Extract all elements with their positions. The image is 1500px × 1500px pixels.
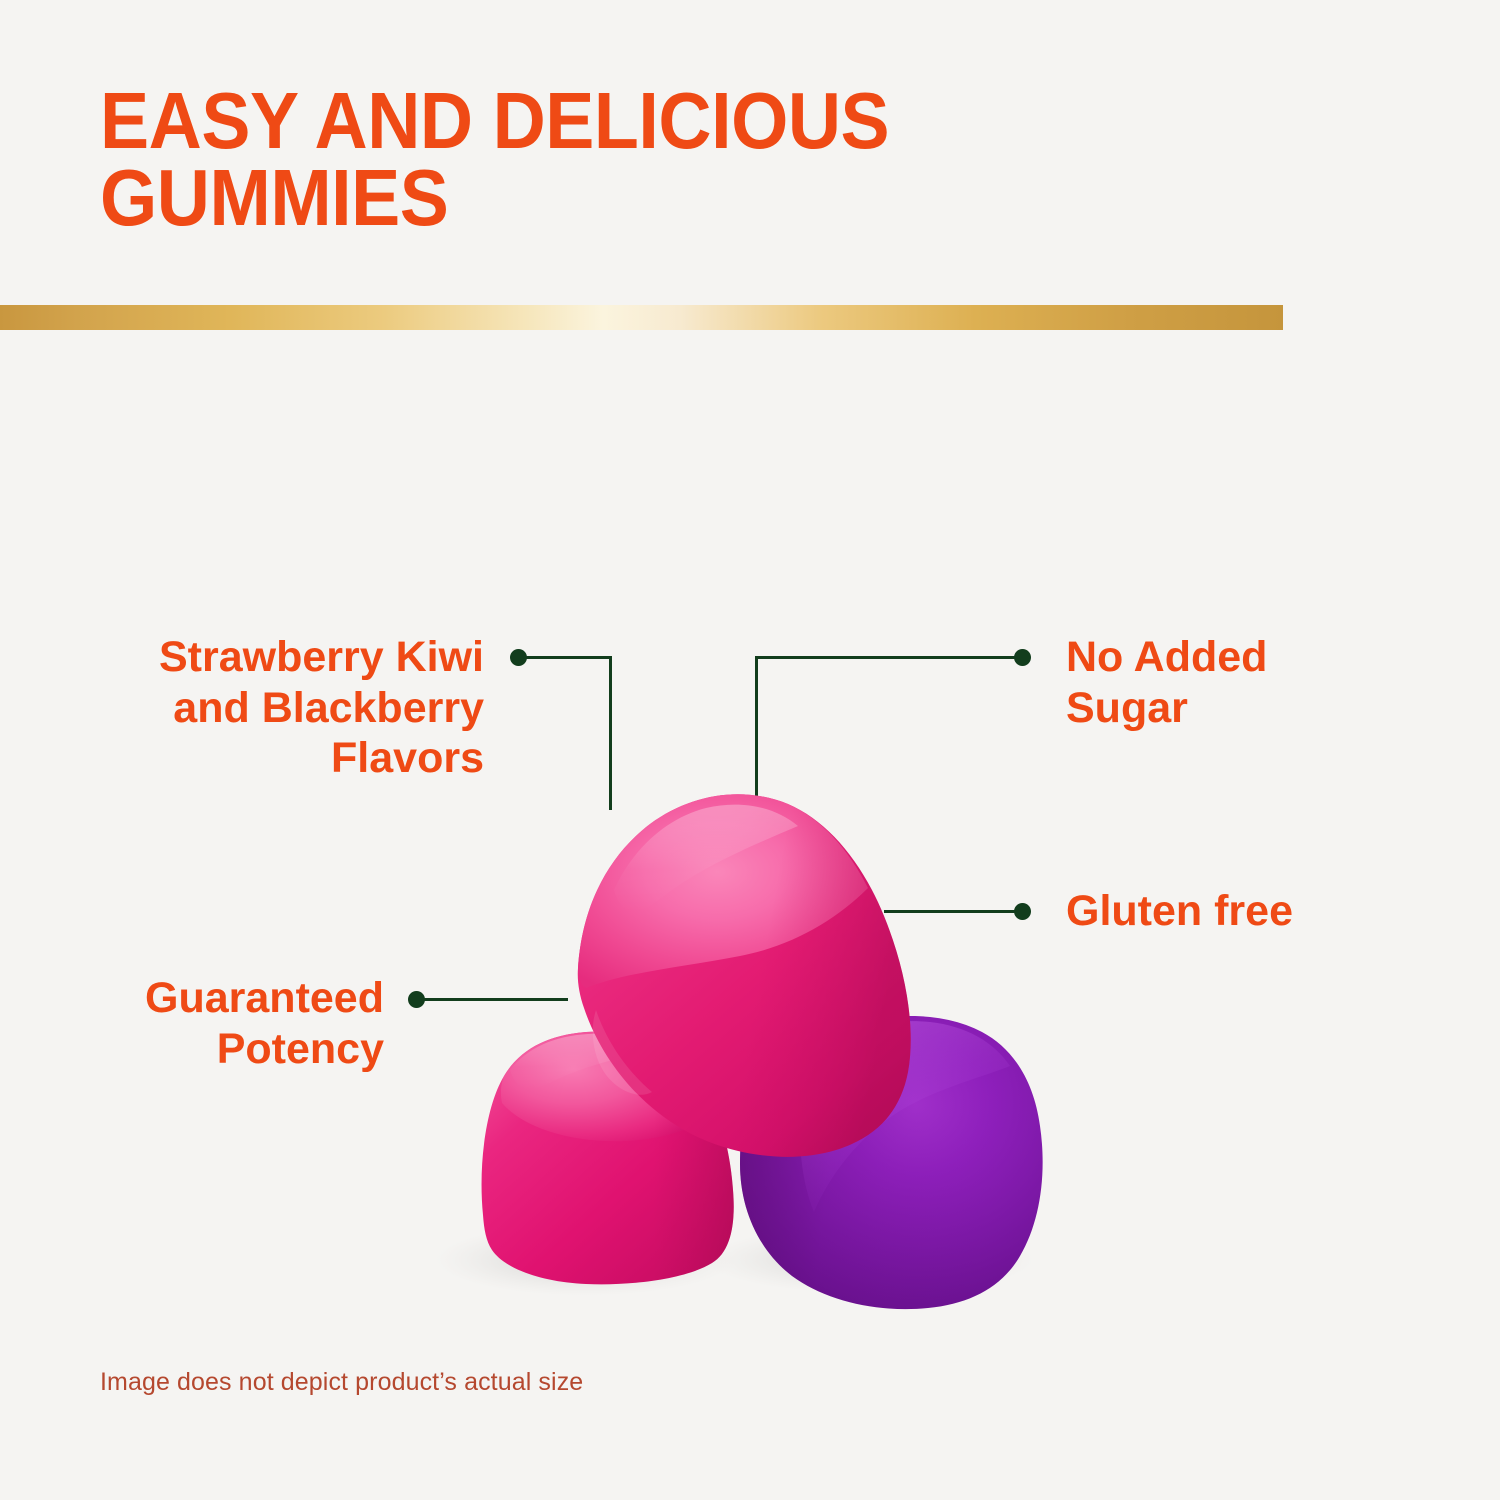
footnote-disclaimer: Image does not depict product’s actual s… — [100, 1368, 583, 1397]
callout-label-gluten-free: Gluten free — [1066, 886, 1446, 937]
gold-divider-bar — [0, 305, 1283, 330]
promo-image-canvas: EASY AND DELICIOUS GUMMIES Strawberry Ki… — [0, 0, 1500, 1500]
product-gummies-illustration — [400, 760, 1100, 1330]
callout-label-guaranteed-potency: Guaranteed Potency — [84, 973, 384, 1074]
callout-label-no-added-sugar: No Added Sugar — [1066, 632, 1446, 733]
page-title: EASY AND DELICIOUS GUMMIES — [100, 83, 1186, 237]
connector-line-flavors-horizontal — [518, 656, 612, 659]
connector-line-no-added-sugar-horizontal — [756, 656, 1018, 659]
